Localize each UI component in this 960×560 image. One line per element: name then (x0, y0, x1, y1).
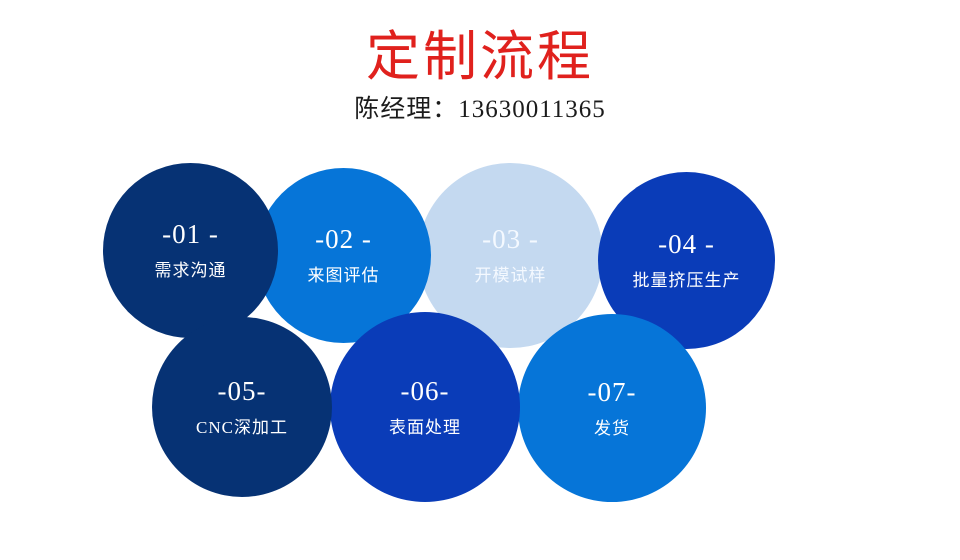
process-step-label: 发货 (594, 418, 630, 440)
process-step-number: -01 - (162, 219, 219, 249)
process-step-label: 开模试样 (475, 265, 547, 287)
slide-canvas: 定制流程 陈经理：13630011365 -01 -需求沟通-02 -来图评估-… (0, 0, 960, 560)
process-step-label: 需求沟通 (155, 260, 227, 282)
process-step-1[interactable]: -01 -需求沟通 (103, 163, 278, 338)
process-step-label: CNC深加工 (196, 417, 288, 439)
process-step-5[interactable]: -05-CNC深加工 (152, 317, 332, 497)
process-step-label: 来图评估 (308, 265, 380, 287)
process-step-number: -07- (588, 377, 637, 407)
process-step-number: -05- (218, 376, 267, 406)
process-step-number: -03 - (482, 224, 539, 254)
process-step-label: 批量挤压生产 (633, 270, 741, 292)
process-step-number: -02 - (315, 224, 372, 254)
process-diagram: -01 -需求沟通-02 -来图评估-03 -开模试样-04 -批量挤压生产-0… (0, 0, 960, 560)
process-step-7[interactable]: -07-发货 (518, 314, 706, 502)
process-step-6[interactable]: -06-表面处理 (330, 312, 520, 502)
process-step-label: 表面处理 (389, 417, 461, 439)
process-step-number: -04 - (658, 229, 715, 259)
process-step-number: -06- (401, 376, 450, 406)
